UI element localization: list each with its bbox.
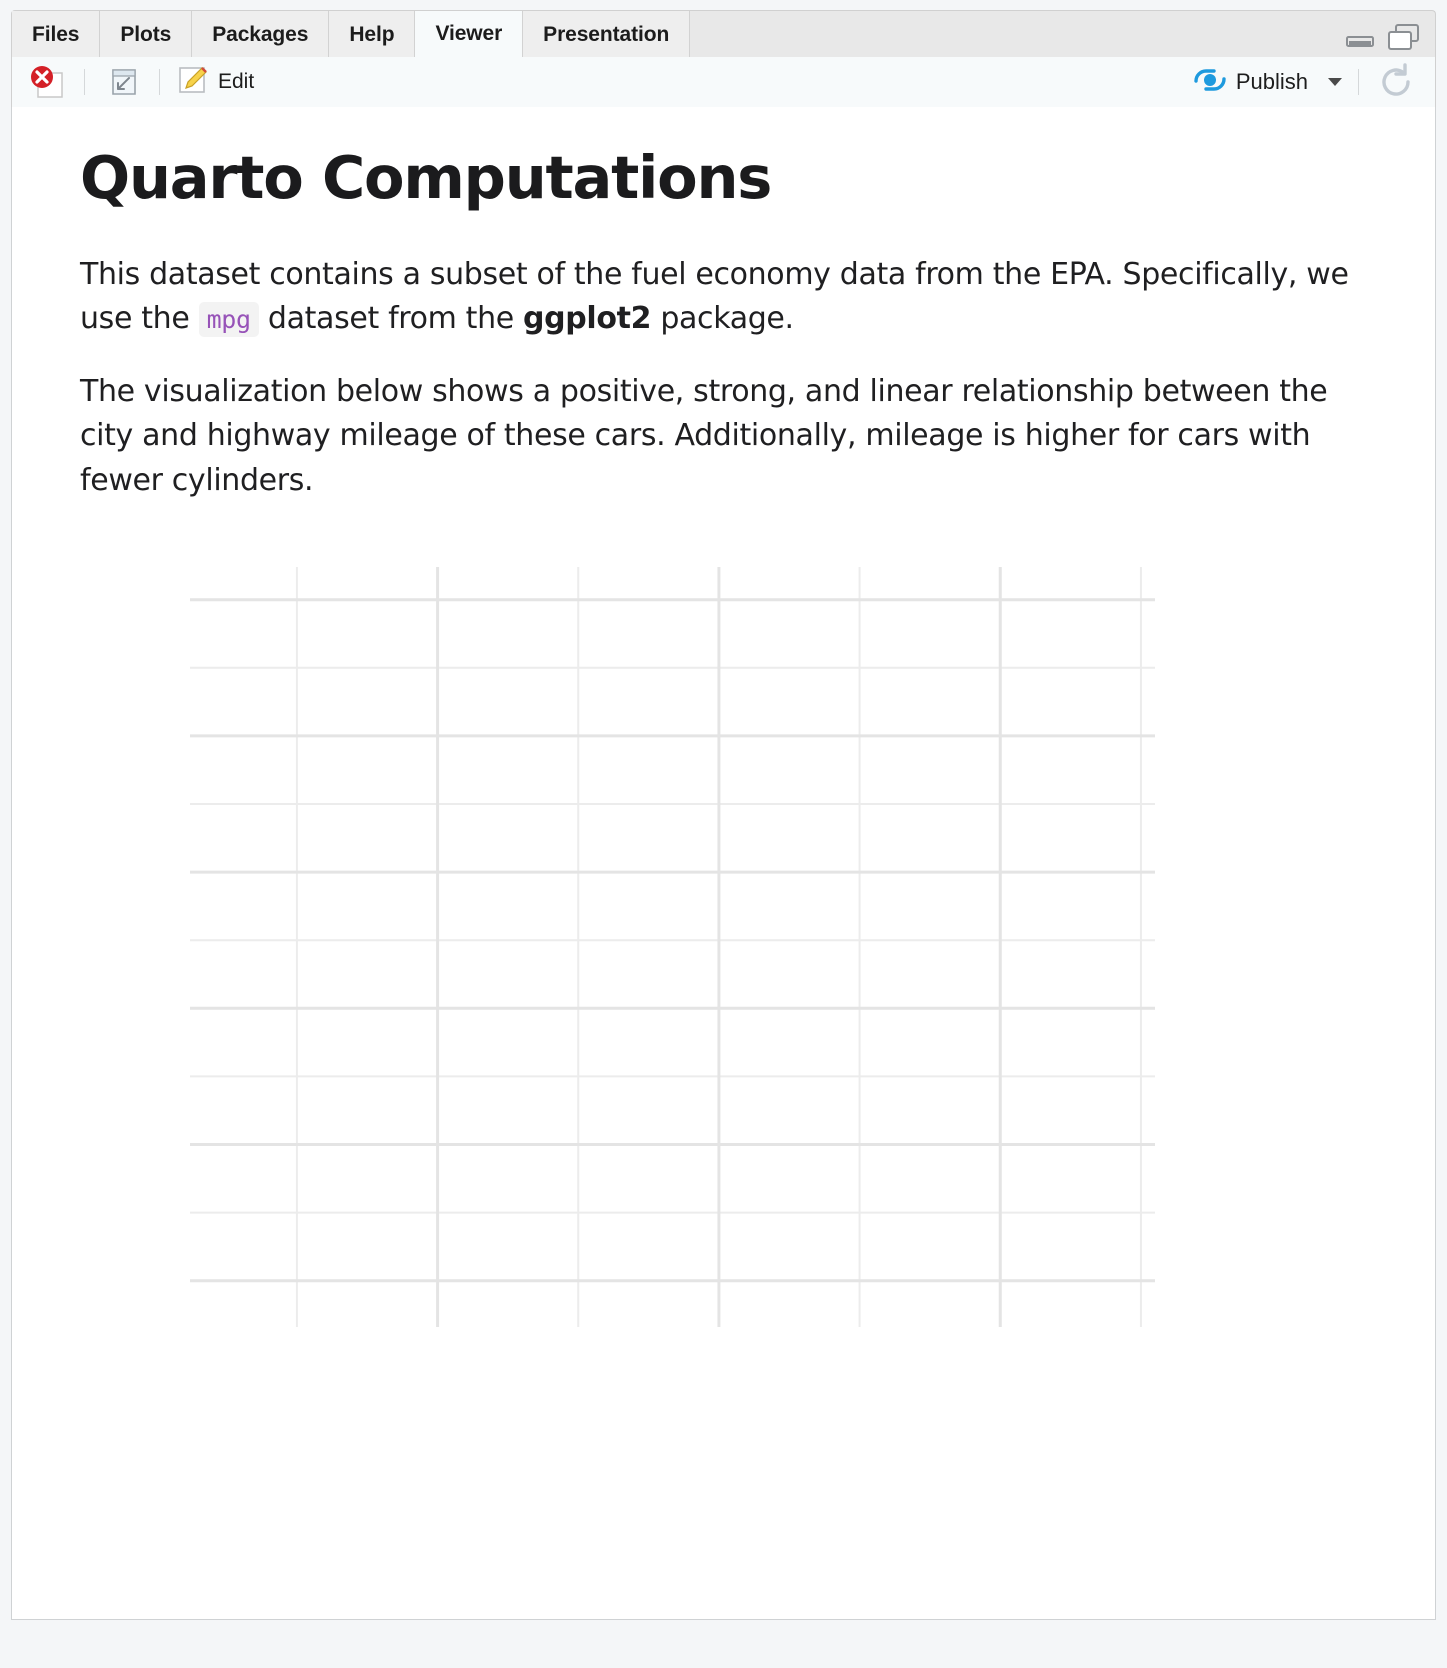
tab-presentation[interactable]: Presentation — [523, 11, 690, 58]
tab-plots[interactable]: Plots — [100, 11, 192, 58]
tab-label: Files — [32, 23, 79, 47]
tab-help[interactable]: Help — [329, 11, 415, 58]
tab-list: FilesPlotsPackagesHelpViewerPresentation — [12, 11, 690, 59]
tab-label: Presentation — [543, 23, 669, 47]
page-title: Quarto Computations — [80, 147, 1373, 209]
inline-code-mpg: mpg — [199, 302, 259, 337]
chevron-down-icon[interactable] — [1328, 78, 1342, 86]
tab-packages[interactable]: Packages — [192, 11, 329, 58]
edit-label: Edit — [218, 70, 254, 94]
paragraph-1-text-c: package. — [651, 301, 794, 336]
scatter-plot — [80, 537, 1370, 1437]
viewer-content-pane[interactable]: Quarto Computations This dataset contain… — [11, 107, 1436, 1620]
stop-icon[interactable] — [22, 62, 72, 102]
publish-button[interactable]: Publish — [1188, 63, 1346, 102]
scatter-plot-svg — [80, 537, 1370, 1437]
toolbar-left-group: Edit — [22, 57, 258, 107]
viewer-toolbar: Edit Publish — [11, 57, 1436, 107]
toolbar-right-group: Publish — [1188, 57, 1421, 107]
window-controls — [1346, 23, 1421, 58]
popout-window-icon[interactable] — [97, 62, 147, 102]
tab-files[interactable]: Files — [12, 11, 100, 58]
edit-pencil-icon — [176, 64, 210, 101]
maximize-icon[interactable] — [1387, 23, 1421, 58]
pane-tabstrip: FilesPlotsPackagesHelpViewerPresentation — [11, 10, 1436, 58]
quarto-document: Quarto Computations This dataset contain… — [12, 107, 1435, 1437]
paragraph-2: The visualization below shows a positive… — [80, 370, 1373, 503]
toolbar-divider-2 — [159, 69, 160, 95]
publish-label: Publish — [1236, 69, 1308, 95]
paragraph-1-text-b: dataset from the — [259, 301, 523, 336]
tab-label: Plots — [120, 23, 171, 47]
refresh-icon[interactable] — [1371, 60, 1421, 104]
tab-label: Packages — [212, 23, 308, 47]
viewer-window: FilesPlotsPackagesHelpViewerPresentation — [0, 0, 1447, 1668]
tab-label: Help — [349, 23, 394, 47]
paragraph-1: This dataset contains a subset of the fu… — [80, 253, 1373, 342]
publish-icon — [1192, 65, 1228, 100]
tab-viewer[interactable]: Viewer — [415, 11, 523, 58]
toolbar-divider — [84, 69, 85, 95]
edit-button[interactable]: Edit — [172, 62, 258, 103]
strong-ggplot2: ggplot2 — [523, 301, 651, 336]
tab-label: Viewer — [435, 22, 502, 46]
minimize-icon[interactable] — [1346, 27, 1376, 54]
toolbar-divider-3 — [1358, 69, 1359, 95]
